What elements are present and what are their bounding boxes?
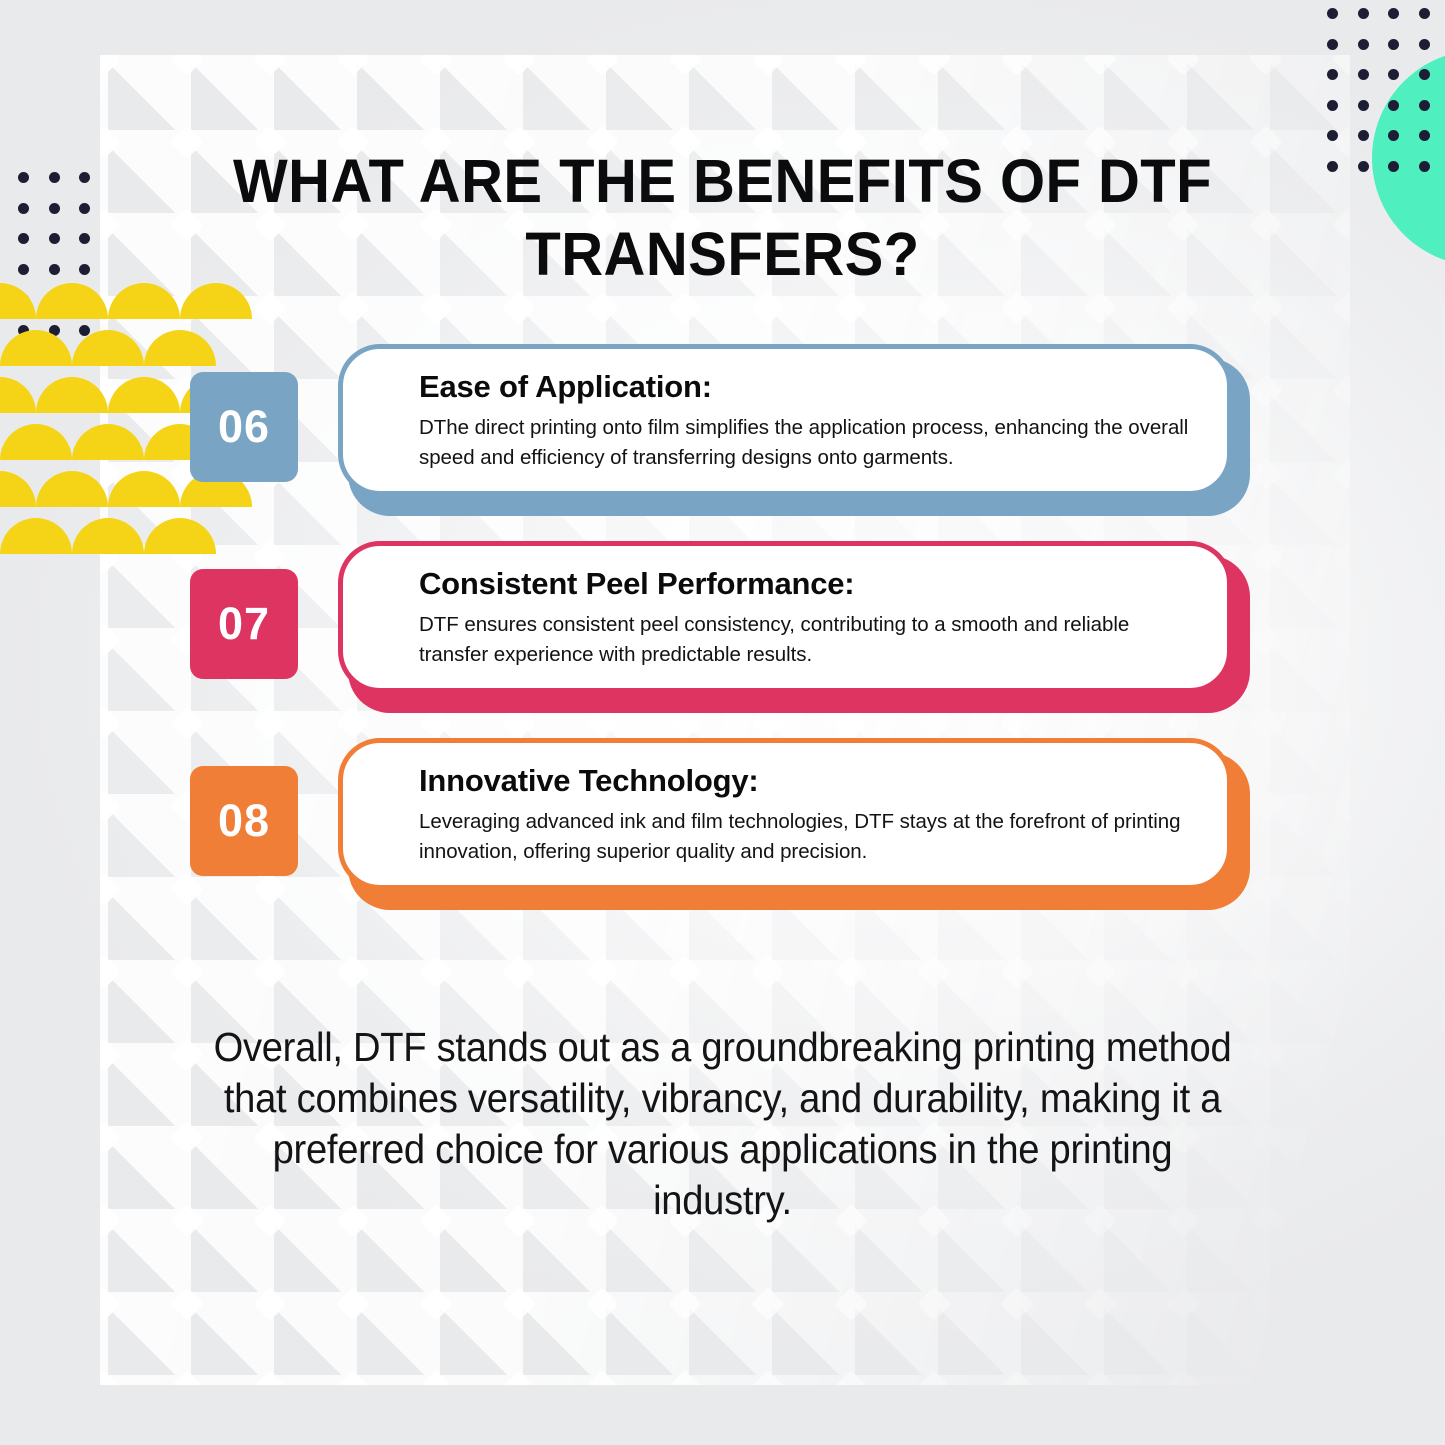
yellow-semicircle	[36, 283, 108, 319]
grid-intersection-diamond	[917, 955, 951, 989]
grid-intersection-diamond	[1083, 1370, 1117, 1404]
decorative-dot	[1419, 100, 1430, 111]
grid-intersection-diamond	[1415, 1370, 1445, 1404]
decorative-dot	[1358, 69, 1369, 80]
grid-intersection-diamond	[1000, 955, 1034, 989]
grid-intersection-diamond	[1249, 1204, 1283, 1238]
grid-intersection-diamond	[419, 42, 453, 76]
grid-intersection-diamond	[1166, 291, 1200, 325]
grid-intersection-diamond	[668, 42, 702, 76]
grid-intersection-diamond	[1249, 955, 1283, 989]
grid-intersection-diamond	[1083, 291, 1117, 325]
decorative-dot	[79, 172, 90, 183]
decorative-dot	[79, 264, 90, 275]
grid-intersection-diamond	[834, 291, 868, 325]
grid-intersection-diamond	[585, 291, 619, 325]
grid-intersection-diamond	[751, 291, 785, 325]
grid-intersection-diamond	[1166, 955, 1200, 989]
grid-intersection-diamond	[585, 1370, 619, 1404]
grid-intersection-diamond	[336, 1287, 370, 1321]
decorative-dot	[1358, 161, 1369, 172]
grid-intersection-diamond	[1166, 1287, 1200, 1321]
decorative-dot	[1327, 100, 1338, 111]
decorative-dot	[1388, 130, 1399, 141]
decorative-dot	[1419, 161, 1430, 172]
grid-intersection-diamond	[502, 1370, 536, 1404]
grid-intersection-diamond	[668, 955, 702, 989]
benefit-heading: Innovative Technology:	[419, 763, 1197, 799]
benefit-number-badge: 06	[190, 372, 298, 482]
decorative-dot	[49, 203, 60, 214]
grid-intersection-diamond	[1000, 42, 1034, 76]
decorative-dot	[1327, 161, 1338, 172]
grid-intersection-diamond	[917, 1287, 951, 1321]
grid-intersection-diamond	[834, 955, 868, 989]
decorative-dot	[1388, 8, 1399, 19]
grid-intersection-diamond	[502, 42, 536, 76]
grid-intersection-diamond	[751, 1370, 785, 1404]
grid-intersection-diamond	[668, 291, 702, 325]
benefit-body-text: DThe direct printing onto film simplifie…	[419, 413, 1197, 473]
grid-intersection-diamond	[502, 955, 536, 989]
decorative-dot	[18, 264, 29, 275]
grid-intersection-diamond	[751, 955, 785, 989]
grid-intersection-diamond	[253, 955, 287, 989]
grid-intersection-diamond	[87, 1287, 121, 1321]
benefit-card-surface: Consistent Peel Performance: DTF ensures…	[338, 541, 1232, 693]
grid-intersection-diamond	[87, 955, 121, 989]
grid-intersection-diamond	[1249, 1038, 1283, 1072]
grid-intersection-diamond	[585, 1287, 619, 1321]
grid-intersection-diamond	[1083, 955, 1117, 989]
decorative-dot	[1388, 161, 1399, 172]
benefit-number-badge: 08	[190, 766, 298, 876]
benefit-card: Ease of Application: DThe direct printin…	[338, 344, 1250, 519]
grid-intersection-diamond	[170, 1038, 204, 1072]
grid-intersection-diamond	[502, 291, 536, 325]
grid-intersection-diamond	[170, 955, 204, 989]
grid-intersection-diamond	[87, 42, 121, 76]
decorative-dot	[1327, 69, 1338, 80]
grid-intersection-diamond	[1166, 42, 1200, 76]
grid-intersection-diamond	[1332, 291, 1366, 325]
grid-intersection-diamond	[336, 291, 370, 325]
grid-intersection-diamond	[1083, 1287, 1117, 1321]
decorative-dot	[49, 264, 60, 275]
grid-intersection-diamond	[1415, 1038, 1445, 1072]
decorative-dot	[1419, 8, 1430, 19]
grid-intersection-diamond	[1332, 1370, 1366, 1404]
grid-intersection-diamond	[917, 1370, 951, 1404]
benefit-number-badge: 07	[190, 569, 298, 679]
grid-intersection-diamond	[1166, 1370, 1200, 1404]
grid-intersection-diamond	[1249, 1287, 1283, 1321]
decorative-dot	[1358, 8, 1369, 19]
grid-intersection-diamond	[170, 42, 204, 76]
grid-intersection-diamond	[336, 42, 370, 76]
grid-intersection-diamond	[1249, 1370, 1283, 1404]
decorative-dot	[1419, 39, 1430, 50]
grid-intersection-diamond	[419, 955, 453, 989]
grid-intersection-diamond	[1415, 291, 1445, 325]
benefit-row: 08 Innovative Technology: Leveraging adv…	[0, 738, 1445, 913]
grid-intersection-diamond	[253, 42, 287, 76]
decorative-dot	[79, 203, 90, 214]
grid-intersection-diamond	[1415, 1204, 1445, 1238]
grid-intersection-diamond	[419, 291, 453, 325]
grid-intersection-diamond	[668, 1370, 702, 1404]
decorative-dot	[1419, 69, 1430, 80]
grid-intersection-diamond	[834, 1287, 868, 1321]
benefit-heading: Consistent Peel Performance:	[419, 566, 1197, 602]
grid-intersection-diamond	[336, 1370, 370, 1404]
grid-intersection-diamond	[668, 1287, 702, 1321]
dot-grid-top-right	[1327, 8, 1445, 191]
grid-intersection-diamond	[1332, 208, 1366, 242]
infographic-canvas: WHAT ARE THE BENEFITS OF DTF TRANSFERS? …	[0, 0, 1445, 1445]
grid-intersection-diamond	[751, 42, 785, 76]
decorative-dot	[1419, 130, 1430, 141]
grid-intersection-diamond	[87, 1204, 121, 1238]
grid-intersection-diamond	[1332, 1287, 1366, 1321]
grid-intersection-diamond	[1332, 1038, 1366, 1072]
grid-intersection-diamond	[834, 1370, 868, 1404]
grid-intersection-diamond	[1332, 955, 1366, 989]
grid-intersection-diamond	[1249, 1121, 1283, 1155]
yellow-semicircle	[0, 283, 36, 319]
grid-intersection-diamond	[1415, 955, 1445, 989]
grid-intersection-diamond	[585, 955, 619, 989]
decorative-dot	[18, 203, 29, 214]
grid-intersection-diamond	[1000, 291, 1034, 325]
grid-intersection-diamond	[1415, 1287, 1445, 1321]
decorative-dot	[49, 233, 60, 244]
grid-intersection-diamond	[502, 1287, 536, 1321]
benefit-card-surface: Innovative Technology: Leveraging advanc…	[338, 738, 1232, 890]
decorative-dot	[1327, 8, 1338, 19]
grid-intersection-diamond	[585, 42, 619, 76]
decorative-dot	[1388, 69, 1399, 80]
decorative-dot	[1358, 39, 1369, 50]
grid-intersection-diamond	[917, 42, 951, 76]
grid-intersection-diamond	[170, 1370, 204, 1404]
grid-intersection-diamond	[419, 1370, 453, 1404]
grid-intersection-diamond	[253, 1370, 287, 1404]
benefit-card-surface: Ease of Application: DThe direct printin…	[338, 344, 1232, 496]
grid-intersection-diamond	[751, 1287, 785, 1321]
grid-intersection-diamond	[87, 125, 121, 159]
decorative-dot	[1358, 130, 1369, 141]
summary-paragraph: Overall, DTF stands out as a groundbreak…	[209, 1022, 1237, 1226]
grid-intersection-diamond	[1415, 1121, 1445, 1155]
decorative-dot	[1388, 39, 1399, 50]
grid-intersection-diamond	[1000, 1287, 1034, 1321]
grid-intersection-diamond	[87, 1370, 121, 1404]
grid-intersection-diamond	[253, 1287, 287, 1321]
grid-intersection-diamond	[87, 1121, 121, 1155]
grid-intersection-diamond	[1332, 1121, 1366, 1155]
grid-intersection-diamond	[253, 291, 287, 325]
decorative-dot	[1358, 100, 1369, 111]
grid-intersection-diamond	[1332, 1204, 1366, 1238]
grid-intersection-diamond	[917, 291, 951, 325]
benefit-body-text: Leveraging advanced ink and film technol…	[419, 807, 1197, 867]
grid-intersection-diamond	[1249, 42, 1283, 76]
benefit-body-text: DTF ensures consistent peel consistency,…	[419, 610, 1197, 670]
grid-intersection-diamond	[834, 42, 868, 76]
grid-intersection-diamond	[419, 1287, 453, 1321]
benefit-row: 07 Consistent Peel Performance: DTF ensu…	[0, 541, 1445, 716]
benefit-row: 06 Ease of Application: DThe direct prin…	[0, 344, 1445, 519]
benefit-card: Consistent Peel Performance: DTF ensures…	[338, 541, 1250, 716]
grid-intersection-diamond	[1083, 42, 1117, 76]
grid-intersection-diamond	[87, 1038, 121, 1072]
decorative-dot	[79, 233, 90, 244]
decorative-dot	[1327, 39, 1338, 50]
decorative-dot	[1327, 130, 1338, 141]
grid-intersection-diamond	[170, 1121, 204, 1155]
grid-intersection-diamond	[1249, 291, 1283, 325]
page-title: WHAT ARE THE BENEFITS OF DTF TRANSFERS?	[179, 145, 1267, 291]
grid-intersection-diamond	[170, 1204, 204, 1238]
decorative-dot	[18, 233, 29, 244]
grid-intersection-diamond	[1000, 1370, 1034, 1404]
grid-intersection-diamond	[170, 1287, 204, 1321]
yellow-semicircle	[108, 283, 180, 319]
decorative-dot	[1388, 100, 1399, 111]
benefit-card: Innovative Technology: Leveraging advanc…	[338, 738, 1250, 913]
grid-intersection-diamond	[336, 955, 370, 989]
decorative-dot	[49, 172, 60, 183]
benefit-heading: Ease of Application:	[419, 369, 1197, 405]
decorative-dot	[18, 172, 29, 183]
